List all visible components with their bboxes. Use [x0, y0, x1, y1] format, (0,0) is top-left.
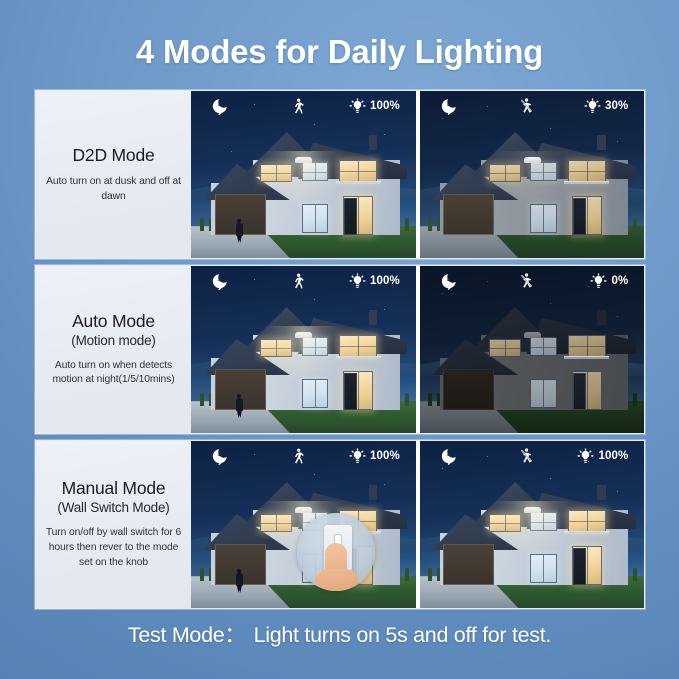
- window: [568, 510, 606, 532]
- test-mode-label: Test Mode：: [128, 623, 246, 647]
- garage-door: [443, 544, 494, 585]
- mode-row-manual: Manual Mode (Wall Switch Mode) Turn on/o…: [35, 440, 645, 609]
- mode-info-panel: Manual Mode (Wall Switch Mode) Turn on/o…: [36, 441, 191, 608]
- walking-person: [236, 219, 243, 243]
- wall-switch-callout[interactable]: [297, 513, 375, 591]
- security-light-fixture: [524, 332, 541, 338]
- mode-info-panel: D2D Mode Auto turn on at dusk and off at…: [36, 91, 191, 258]
- garage-door: [443, 369, 494, 410]
- window: [530, 337, 556, 356]
- mode-title: Auto Mode: [72, 311, 155, 332]
- mode-row-auto: Auto Mode (Motion mode) Auto turn on whe…: [35, 265, 645, 434]
- mode-description: Turn on/off by wall switch for 6 hours t…: [41, 526, 186, 571]
- mode-row-d2d: D2D Mode Auto turn on at dusk and off at…: [35, 90, 645, 259]
- window: [339, 160, 377, 182]
- mode-description: Auto turn on when detects motion at nigh…: [41, 359, 186, 389]
- mode-subtitle: (Wall Switch Mode): [57, 500, 169, 517]
- balcony-rail: [564, 181, 609, 184]
- walking-person: [236, 394, 243, 418]
- house: [440, 128, 629, 235]
- scene-d2d-right: 30%: [420, 91, 645, 258]
- scene-pair: 100%: [191, 266, 644, 433]
- window: [260, 339, 292, 357]
- security-light-fixture: [295, 507, 312, 513]
- front-door: [573, 373, 586, 409]
- hand: [315, 569, 359, 591]
- chimney: [597, 310, 605, 325]
- chimney: [597, 485, 605, 500]
- window: [489, 339, 521, 357]
- window: [302, 337, 328, 356]
- balcony-rail: [336, 181, 381, 184]
- page-title: 4 Modes for Daily Lighting: [0, 33, 679, 71]
- window: [260, 514, 292, 532]
- window: [568, 335, 606, 357]
- window: [260, 164, 292, 182]
- balcony-rail: [336, 356, 381, 359]
- window: [302, 162, 328, 181]
- chimney: [597, 135, 605, 150]
- security-light-fixture: [524, 157, 541, 163]
- chimney: [369, 135, 377, 150]
- front-door: [344, 373, 357, 409]
- window: [530, 554, 556, 583]
- mode-subtitle: (Motion mode): [71, 333, 155, 350]
- garage-door: [443, 194, 494, 235]
- window: [530, 204, 556, 233]
- window: [530, 162, 556, 181]
- window: [302, 379, 328, 408]
- front-door: [573, 548, 586, 584]
- window: [568, 160, 606, 182]
- scene-d2d-left: 100%: [191, 91, 416, 258]
- window: [489, 164, 521, 182]
- promo-page: 4 Modes for Daily Lighting D2D Mode Auto…: [0, 0, 679, 679]
- security-light-fixture: [295, 332, 312, 338]
- window: [339, 335, 377, 357]
- security-light-fixture: [295, 157, 312, 163]
- mode-title: Manual Mode: [62, 478, 166, 499]
- scene-manual-right: 100%: [420, 441, 645, 608]
- security-light-fixture: [524, 507, 541, 513]
- scene-pair: 100%: [191, 91, 644, 258]
- balcony-rail: [564, 531, 609, 534]
- mode-description: Auto turn on at dusk and off at dawn: [41, 175, 186, 205]
- house: [440, 303, 629, 410]
- house: [440, 478, 629, 585]
- scene-auto-right: 0%: [420, 266, 645, 433]
- front-door: [344, 198, 357, 234]
- front-door: [573, 198, 586, 234]
- mode-info-panel: Auto Mode (Motion mode) Auto turn on whe…: [36, 266, 191, 433]
- test-mode-text: Light turns on 5s and off for test.: [254, 623, 551, 647]
- scene-manual-left: 100%: [191, 441, 416, 608]
- mode-title: D2D Mode: [72, 145, 154, 166]
- test-mode-footer: Test Mode：Light turns on 5s and off for …: [0, 618, 679, 649]
- window: [530, 379, 556, 408]
- chimney: [369, 485, 377, 500]
- balcony-rail: [564, 356, 609, 359]
- chimney: [369, 310, 377, 325]
- walking-person: [236, 569, 243, 593]
- scene-pair: 100%: [191, 441, 644, 608]
- window: [489, 514, 521, 532]
- window: [302, 204, 328, 233]
- scene-auto-left: 100%: [191, 266, 416, 433]
- window: [530, 512, 556, 531]
